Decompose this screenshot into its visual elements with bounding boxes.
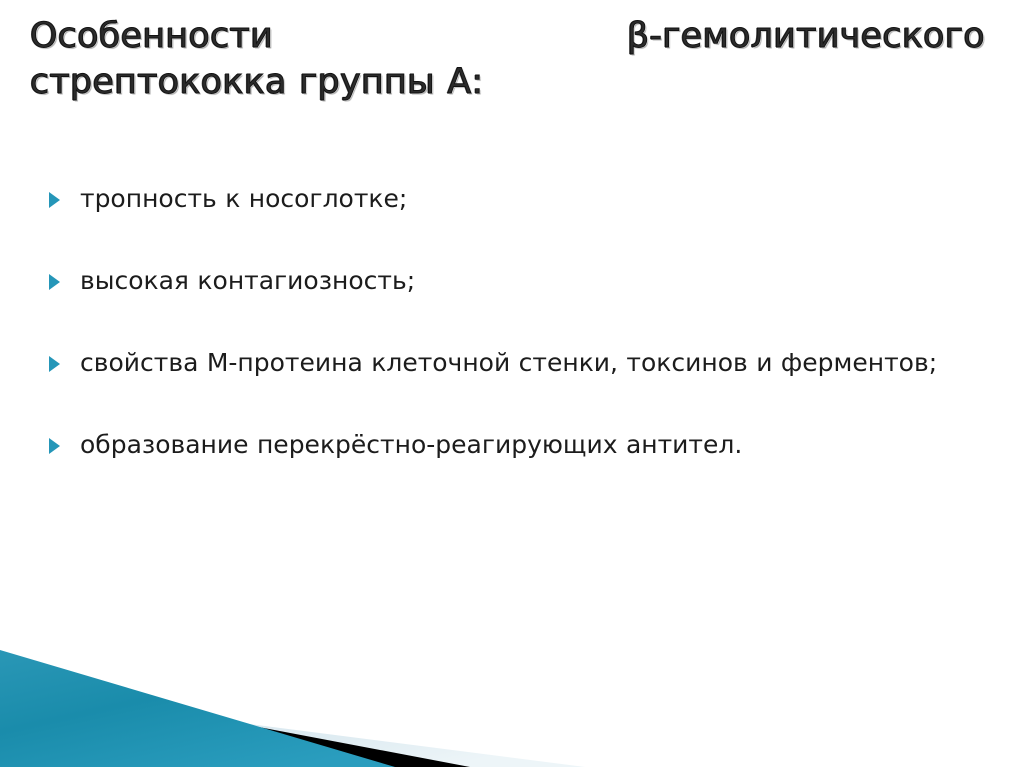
list-item: свойства М-протеина клеточной стенки, то… (44, 344, 984, 382)
bullet-list: тропность к носоглотке; высокая контагио… (44, 180, 984, 464)
decoration-black-stripe (0, 678, 470, 767)
triangle-right-icon (49, 192, 60, 208)
list-item-label: свойства М-протеина клеточной стенки, то… (80, 344, 984, 382)
list-item: тропность к носоглотке; (44, 180, 984, 218)
page-title: Особенности β-гемолитического стрептокок… (30, 14, 985, 105)
title-line-2: стрептококка группы А: (30, 60, 985, 106)
decoration-pale-stripe (0, 692, 585, 767)
triangle-right-icon (49, 356, 60, 372)
slide-canvas: Особенности β-гемолитического стрептокок… (0, 0, 1024, 767)
list-item-label: тропность к носоглотке; (80, 180, 984, 218)
triangle-right-icon (49, 438, 60, 454)
decoration-teal-wedge (0, 650, 395, 767)
bottom-decoration (0, 632, 1024, 767)
triangle-right-icon (49, 274, 60, 290)
list-item-label: образование перекрёстно-реагирующих анти… (80, 426, 984, 464)
list-item-label: высокая контагиозность; (80, 262, 984, 300)
title-line-1: Особенности β-гемолитического (30, 14, 985, 60)
list-item: высокая контагиозность; (44, 262, 984, 300)
title-block: Особенности β-гемолитического стрептокок… (30, 14, 985, 105)
list-item: образование перекрёстно-реагирующих анти… (44, 426, 984, 464)
